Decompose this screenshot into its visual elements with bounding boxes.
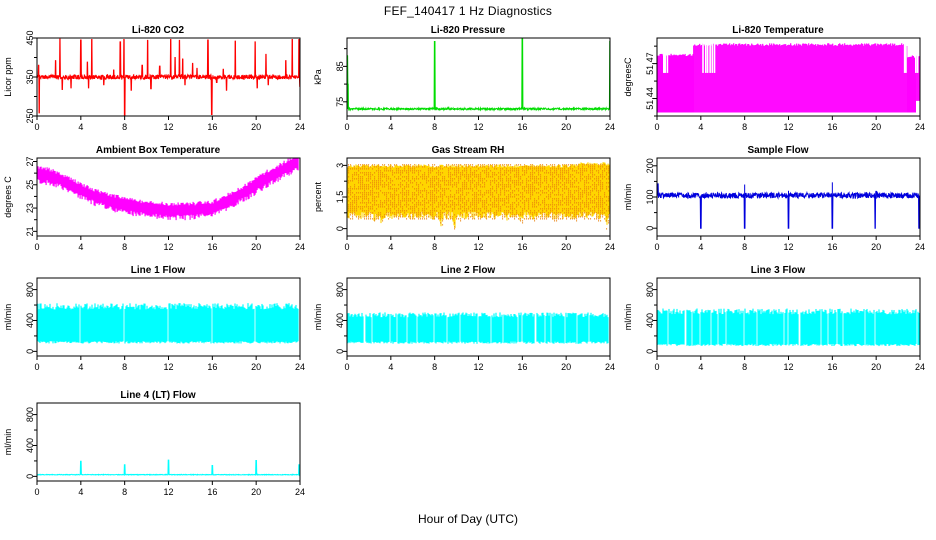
- panel-data-7: [38, 303, 298, 343]
- svg-text:0: 0: [34, 242, 39, 252]
- panel-data-1: [37, 39, 300, 115]
- svg-text:16: 16: [517, 242, 527, 252]
- svg-text:24: 24: [915, 122, 925, 132]
- panel-axes-6: 048121620240100200ml/min: [623, 158, 925, 252]
- svg-text:8: 8: [122, 122, 127, 132]
- svg-text:16: 16: [827, 362, 837, 372]
- svg-text:4: 4: [698, 122, 703, 132]
- panel-title-5: Gas Stream RH: [310, 145, 626, 156]
- svg-text:24: 24: [915, 362, 925, 372]
- svg-text:4: 4: [698, 242, 703, 252]
- panel-ylabel-3: degreesC: [623, 57, 633, 97]
- plot-panel-10: Line 4 (LT) Flow048121620240400800ml/min: [0, 390, 316, 510]
- svg-text:0: 0: [645, 349, 655, 354]
- panel-data-10: [37, 460, 300, 475]
- svg-text:0: 0: [335, 349, 345, 354]
- svg-text:12: 12: [163, 122, 173, 132]
- svg-text:3: 3: [335, 163, 345, 168]
- svg-text:250: 250: [25, 108, 35, 123]
- svg-text:0: 0: [335, 226, 345, 231]
- svg-text:24: 24: [605, 122, 615, 132]
- svg-text:12: 12: [473, 362, 483, 372]
- panel-canvas-2: 048121620247585kPa: [310, 25, 626, 145]
- svg-text:8: 8: [122, 362, 127, 372]
- svg-text:800: 800: [25, 407, 35, 422]
- svg-text:8: 8: [432, 122, 437, 132]
- svg-text:0: 0: [344, 122, 349, 132]
- panel-canvas-8: 048121620240400800ml/min: [310, 265, 626, 385]
- svg-text:0: 0: [344, 362, 349, 372]
- panel-ylabel-2: kPa: [313, 69, 323, 85]
- svg-text:24: 24: [605, 362, 615, 372]
- panel-canvas-9: 048121620240400800ml/min: [620, 265, 936, 385]
- panel-canvas-1: 04812162024250350450Licor ppm: [0, 25, 316, 145]
- panel-ylabel-9: ml/min: [623, 304, 633, 331]
- panel-title-9: Line 3 Flow: [620, 265, 936, 276]
- diagnostics-figure: FEF_140417 1 Hz Diagnostics Li-820 CO204…: [0, 0, 936, 540]
- panel-canvas-3: 0481216202451.4451.47degreesC: [620, 25, 936, 145]
- svg-text:0: 0: [34, 122, 39, 132]
- svg-text:8: 8: [742, 362, 747, 372]
- svg-text:16: 16: [517, 122, 527, 132]
- svg-text:4: 4: [388, 362, 393, 372]
- plot-panel-3: Li-820 Temperature0481216202451.4451.47d…: [620, 25, 936, 145]
- svg-text:20: 20: [251, 122, 261, 132]
- panel-title-10: Line 4 (LT) Flow: [0, 390, 316, 401]
- svg-text:8: 8: [122, 487, 127, 497]
- panel-canvas-4: 0481216202421232527degrees C: [0, 145, 316, 265]
- svg-text:12: 12: [473, 122, 483, 132]
- svg-text:400: 400: [25, 313, 35, 328]
- svg-text:23: 23: [25, 203, 35, 213]
- svg-text:24: 24: [295, 122, 305, 132]
- svg-text:20: 20: [251, 487, 261, 497]
- svg-text:20: 20: [561, 122, 571, 132]
- plot-panel-2: Li-820 Pressure048121620247585kPa: [310, 25, 626, 145]
- plot-panel-5: Gas Stream RH0481216202401.53percent: [310, 145, 626, 265]
- svg-text:20: 20: [871, 362, 881, 372]
- svg-text:16: 16: [207, 242, 217, 252]
- svg-text:4: 4: [78, 487, 83, 497]
- svg-text:12: 12: [783, 362, 793, 372]
- svg-text:16: 16: [207, 122, 217, 132]
- svg-text:20: 20: [251, 362, 261, 372]
- svg-text:8: 8: [432, 362, 437, 372]
- svg-text:4: 4: [388, 122, 393, 132]
- panel-axes-10: 048121620240400800ml/min: [3, 403, 305, 497]
- svg-text:20: 20: [561, 242, 571, 252]
- svg-text:16: 16: [517, 362, 527, 372]
- svg-text:4: 4: [388, 242, 393, 252]
- svg-text:27: 27: [25, 156, 35, 166]
- panel-title-6: Sample Flow: [620, 145, 936, 156]
- svg-text:16: 16: [207, 487, 217, 497]
- svg-text:400: 400: [25, 438, 35, 453]
- svg-text:4: 4: [78, 362, 83, 372]
- svg-text:75: 75: [335, 97, 345, 107]
- svg-text:12: 12: [783, 242, 793, 252]
- svg-text:12: 12: [163, 487, 173, 497]
- svg-text:51.44: 51.44: [645, 87, 655, 110]
- figure-title: FEF_140417 1 Hz Diagnostics: [0, 4, 936, 18]
- svg-text:0: 0: [654, 362, 659, 372]
- svg-text:350: 350: [25, 69, 35, 84]
- svg-text:0: 0: [34, 362, 39, 372]
- svg-text:4: 4: [698, 362, 703, 372]
- panel-data-3: [658, 38, 919, 113]
- svg-text:24: 24: [605, 242, 615, 252]
- svg-text:20: 20: [561, 362, 571, 372]
- svg-text:16: 16: [827, 242, 837, 252]
- svg-text:200: 200: [645, 158, 655, 173]
- svg-text:4: 4: [78, 122, 83, 132]
- panel-data-9: [658, 309, 919, 347]
- panel-data-8: [348, 312, 608, 343]
- svg-text:12: 12: [163, 242, 173, 252]
- panel-ylabel-4: degrees C: [3, 176, 13, 218]
- figure-xaxis-label: Hour of Day (UTC): [0, 512, 936, 526]
- plot-panel-1: Li-820 CO204812162024250350450Licor ppm: [0, 25, 316, 145]
- panel-data-4: [38, 154, 298, 220]
- plot-panel-9: Line 3 Flow048121620240400800ml/min: [620, 265, 936, 385]
- svg-text:4: 4: [78, 242, 83, 252]
- svg-text:25: 25: [25, 180, 35, 190]
- svg-text:12: 12: [473, 242, 483, 252]
- svg-text:0: 0: [25, 474, 35, 479]
- panel-axes-1: 04812162024250350450Licor ppm: [3, 30, 305, 132]
- svg-text:24: 24: [295, 242, 305, 252]
- panel-title-1: Li-820 CO2: [0, 25, 316, 36]
- svg-text:16: 16: [827, 122, 837, 132]
- svg-text:400: 400: [335, 313, 345, 328]
- svg-text:0: 0: [654, 122, 659, 132]
- svg-text:800: 800: [25, 282, 35, 297]
- panel-canvas-7: 048121620240400800ml/min: [0, 265, 316, 385]
- panel-title-7: Line 1 Flow: [0, 265, 316, 276]
- svg-text:0: 0: [645, 226, 655, 231]
- svg-text:400: 400: [645, 313, 655, 328]
- panel-data-2: [347, 38, 610, 110]
- svg-text:0: 0: [25, 349, 35, 354]
- panel-ylabel-10: ml/min: [3, 429, 13, 456]
- panel-ylabel-7: ml/min: [3, 304, 13, 331]
- svg-text:24: 24: [295, 487, 305, 497]
- svg-text:100: 100: [645, 189, 655, 204]
- panel-ylabel-5: percent: [313, 181, 323, 212]
- svg-text:8: 8: [122, 242, 127, 252]
- panel-title-4: Ambient Box Temperature: [0, 145, 316, 156]
- plot-panel-6: Sample Flow048121620240100200ml/min: [620, 145, 936, 265]
- panel-canvas-5: 0481216202401.53percent: [310, 145, 626, 265]
- svg-text:24: 24: [295, 362, 305, 372]
- svg-text:0: 0: [34, 487, 39, 497]
- svg-text:800: 800: [645, 282, 655, 297]
- panel-canvas-6: 048121620240100200ml/min: [620, 145, 936, 265]
- panel-title-8: Line 2 Flow: [310, 265, 626, 276]
- svg-text:8: 8: [432, 242, 437, 252]
- svg-text:85: 85: [335, 61, 345, 71]
- svg-text:800: 800: [335, 282, 345, 297]
- panel-title-3: Li-820 Temperature: [620, 25, 936, 36]
- svg-text:12: 12: [163, 362, 173, 372]
- svg-text:20: 20: [871, 242, 881, 252]
- panel-title-2: Li-820 Pressure: [310, 25, 626, 36]
- svg-text:12: 12: [783, 122, 793, 132]
- svg-text:0: 0: [344, 242, 349, 252]
- panel-data-5: [348, 162, 609, 229]
- plot-panel-4: Ambient Box Temperature04812162024212325…: [0, 145, 316, 265]
- panel-data-6: [657, 182, 920, 228]
- svg-text:1.5: 1.5: [335, 191, 345, 204]
- svg-text:8: 8: [742, 122, 747, 132]
- svg-text:20: 20: [251, 242, 261, 252]
- svg-text:21: 21: [25, 226, 35, 236]
- svg-text:16: 16: [207, 362, 217, 372]
- panel-axes-2: 048121620247585kPa: [313, 38, 615, 132]
- svg-text:0: 0: [654, 242, 659, 252]
- panel-canvas-10: 048121620240400800ml/min: [0, 390, 316, 510]
- svg-text:51.47: 51.47: [645, 52, 655, 75]
- plot-panel-8: Line 2 Flow048121620240400800ml/min: [310, 265, 626, 385]
- plot-panel-7: Line 1 Flow048121620240400800ml/min: [0, 265, 316, 385]
- svg-text:24: 24: [915, 242, 925, 252]
- panel-ylabel-8: ml/min: [313, 304, 323, 331]
- panel-ylabel-6: ml/min: [623, 184, 633, 211]
- svg-text:8: 8: [742, 242, 747, 252]
- svg-text:20: 20: [871, 122, 881, 132]
- panel-ylabel-1: Licor ppm: [3, 57, 13, 97]
